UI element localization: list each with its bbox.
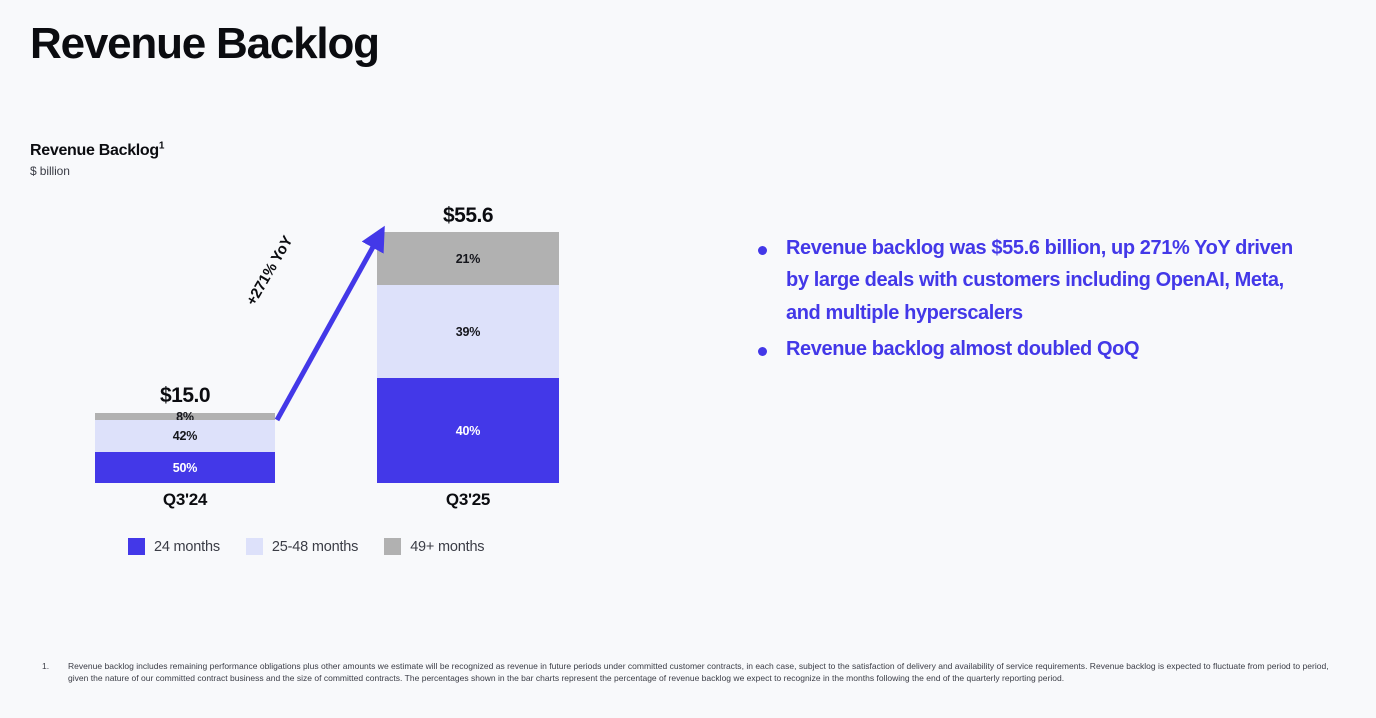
bar-segment-label-q325-25to48: 39% bbox=[456, 325, 480, 339]
legend-label-25-48-months: 25-48 months bbox=[272, 539, 358, 555]
footnote: 1. Revenue backlog includes remaining pe… bbox=[42, 660, 1342, 685]
chart-subtitle: $ billion bbox=[30, 164, 690, 178]
bar-segment-q324-24[interactable]: 50% bbox=[95, 452, 275, 483]
chart-header-block: Revenue Backlog1 $ billion bbox=[30, 142, 690, 178]
bar-segment-q324-25to48[interactable]: 42% bbox=[95, 420, 275, 452]
legend-item-49-plus-months[interactable]: 49+ months bbox=[384, 538, 484, 555]
footnote-text: Revenue backlog includes remaining perfo… bbox=[68, 660, 1342, 685]
legend-item-25-48-months[interactable]: 25-48 months bbox=[246, 538, 358, 555]
chart-title-text: Revenue Backlog bbox=[30, 142, 159, 159]
chart-legend: 24 months 25-48 months 49+ months bbox=[128, 538, 484, 555]
footnote-number: 1. bbox=[42, 660, 68, 672]
bar-group-q324[interactable]: $15.0 8% 42% 50% Q3'24 bbox=[95, 232, 275, 522]
bar-segment-label-q325-49plus: 21% bbox=[456, 252, 480, 266]
legend-label-49-plus-months: 49+ months bbox=[410, 539, 484, 555]
bullet-dot-icon bbox=[758, 347, 767, 356]
list-item: Revenue backlog was $55.6 billion, up 27… bbox=[758, 232, 1318, 329]
legend-swatch-icon-49-plus-months bbox=[384, 538, 401, 555]
insight-text-1: Revenue backlog was $55.6 billion, up 27… bbox=[786, 232, 1318, 329]
bar-segment-label-q324-25to48: 42% bbox=[173, 429, 197, 443]
bar-total-label-q324: $15.0 bbox=[95, 384, 275, 408]
bar-segment-label-q325-24: 40% bbox=[456, 424, 480, 438]
chart-title: Revenue Backlog1 bbox=[30, 142, 690, 160]
legend-item-24-months[interactable]: 24 months bbox=[128, 538, 220, 555]
insights-list: Revenue backlog was $55.6 billion, up 27… bbox=[758, 232, 1318, 370]
bar-category-label-q325: Q3'25 bbox=[377, 490, 559, 510]
insight-text-2: Revenue backlog almost doubled QoQ bbox=[786, 333, 1139, 365]
bar-category-label-q324: Q3'24 bbox=[95, 490, 275, 510]
legend-label-24-months: 24 months bbox=[154, 539, 220, 555]
legend-swatch-icon-24-months bbox=[128, 538, 145, 555]
list-item: Revenue backlog almost doubled QoQ bbox=[758, 333, 1318, 365]
chart-title-footnote-marker: 1 bbox=[159, 141, 164, 152]
page-title: Revenue Backlog bbox=[30, 20, 379, 68]
legend-swatch-icon-25-48-months bbox=[246, 538, 263, 555]
bar-segment-label-q324-24: 50% bbox=[173, 461, 197, 475]
bullet-dot-icon bbox=[758, 246, 767, 255]
